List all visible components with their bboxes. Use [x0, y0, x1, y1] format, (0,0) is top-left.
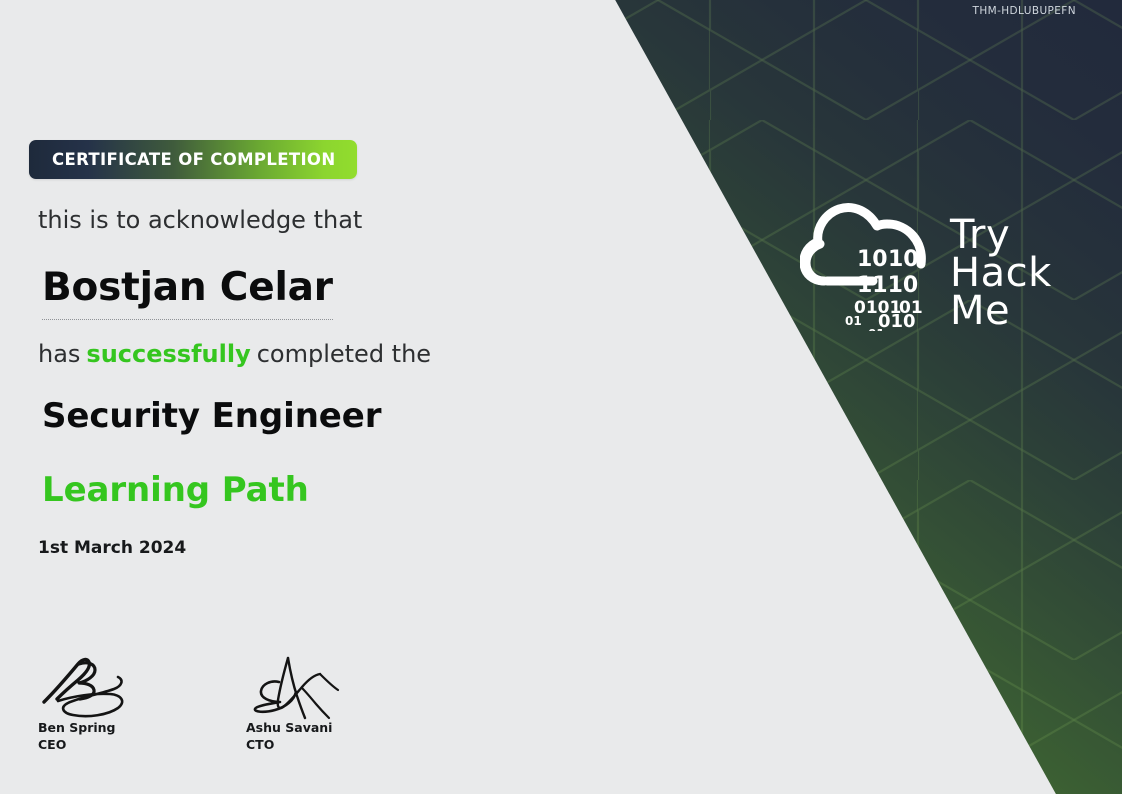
- cloud-binary-logo-icon: 10 10 1110 0101 01 01 010 01: [800, 186, 950, 331]
- path-name: Security Engineer: [42, 396, 381, 436]
- certificate: THM-HDLUBUPEFN 10 10 1110 0101 01 01 010…: [0, 0, 1122, 794]
- signatory-role: CEO: [38, 737, 158, 754]
- svg-text:10: 10: [888, 247, 919, 272]
- completion-prefix: has: [38, 340, 80, 368]
- svg-text:10: 10: [857, 247, 888, 272]
- svg-text:01: 01: [845, 314, 862, 328]
- brand-line-2: Hack: [950, 254, 1052, 292]
- brand-line-3: Me: [950, 292, 1052, 330]
- signature-area: Ben Spring CEO Ashu Savani: [38, 652, 366, 753]
- decorative-diagonal-panel: [562, 0, 1122, 794]
- signature-ashu-savani-icon: [246, 652, 366, 720]
- certificate-content: CERTIFICATE OF COMPLETION this is to ack…: [38, 0, 598, 794]
- path-type: Learning Path: [42, 470, 309, 510]
- brand-line-1: Try: [950, 216, 1052, 254]
- tryhackme-logo: 10 10 1110 0101 01 01 010 01 Try Hack Me: [800, 186, 1080, 338]
- hexagon-pattern-icon: [562, 0, 1122, 794]
- signatory-name: Ashu Savani: [246, 720, 366, 737]
- signature-ben-spring-icon: [38, 652, 158, 720]
- svg-text:01: 01: [868, 327, 885, 331]
- svg-text:1110: 1110: [857, 273, 918, 298]
- signatory-role: CTO: [246, 737, 366, 754]
- certificate-id: THM-HDLUBUPEFN: [973, 5, 1077, 17]
- completion-suffix: completed the: [257, 340, 431, 368]
- completion-text: has successfully completed the: [38, 340, 431, 368]
- recipient-name: Bostjan Celar: [42, 265, 333, 320]
- signature-block-ceo: Ben Spring CEO: [38, 652, 158, 753]
- acknowledge-text: this is to acknowledge that: [38, 206, 362, 234]
- completion-date: 1st March 2024: [38, 538, 186, 558]
- signatory-name: Ben Spring: [38, 720, 158, 737]
- tryhackme-wordmark: Try Hack Me: [950, 216, 1052, 330]
- status-badge: CERTIFICATE OF COMPLETION: [29, 140, 357, 179]
- signature-block-cto: Ashu Savani CTO: [246, 652, 366, 753]
- completion-highlight: successfully: [80, 340, 256, 368]
